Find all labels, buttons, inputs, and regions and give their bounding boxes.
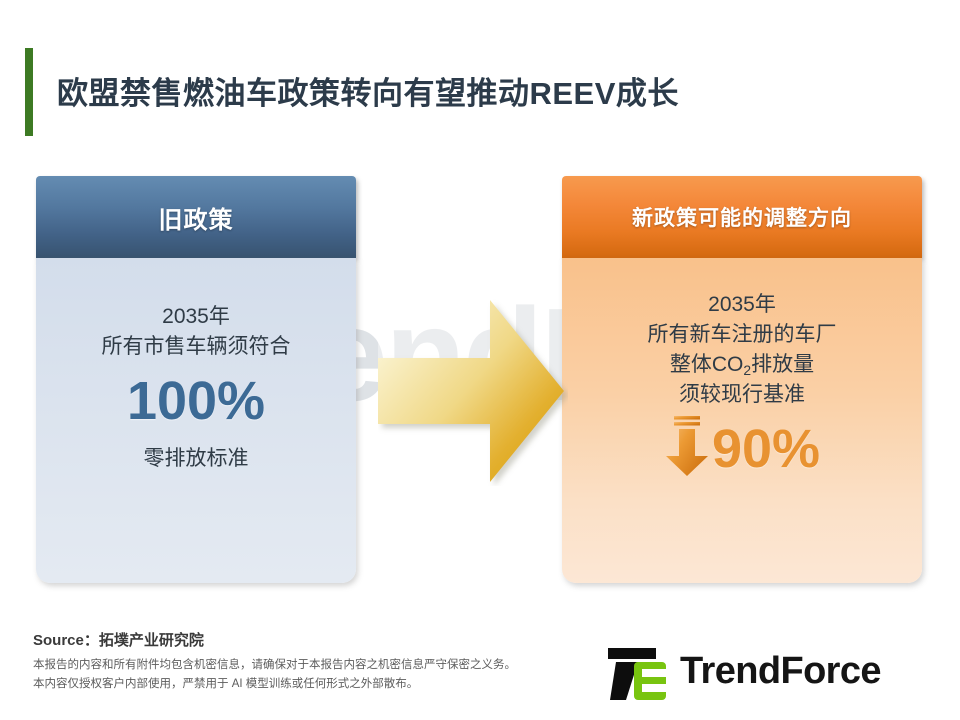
panel-old-policy-body: 2035年 所有市售车辆须符合 100% 零排放标准 <box>36 258 356 583</box>
new-policy-line-4: 须较现行基准 <box>679 380 805 410</box>
source-label: Source：拓墣产业研究院 <box>33 629 204 650</box>
new-policy-reduction-row: 90% <box>664 416 820 482</box>
title-row: 欧盟禁售燃油车政策转向有望推动REEV成长 <box>25 48 925 136</box>
old-policy-big-number: 100% <box>127 374 265 428</box>
trendforce-logo-icon <box>608 648 674 705</box>
old-policy-line-2: 所有市售车辆须符合 <box>102 332 291 362</box>
panel-new-policy-body: 2035年 所有新车注册的车厂 整体CO2排放量 须较现行基准 <box>562 258 922 583</box>
transition-arrow-right-icon <box>378 296 568 486</box>
disclaimer-line-1: 本报告的内容和所有附件均包含机密信息，请确保对于本报告内容之机密信息严守保密之义… <box>33 656 516 675</box>
panel-new-policy-header: 新政策可能的调整方向 <box>562 176 922 258</box>
panel-new-policy-header-label: 新政策可能的调整方向 <box>632 202 852 232</box>
new-policy-big-number: 90% <box>712 422 820 476</box>
disclaimer-block: 本报告的内容和所有附件均包含机密信息，请确保对于本报告内容之机密信息严守保密之义… <box>33 656 516 693</box>
arrow-down-icon <box>664 414 710 483</box>
footer: Source：拓墣产业研究院 本报告的内容和所有附件均包含机密信息，请确保对于本… <box>0 620 960 720</box>
new-policy-co2-subscript: 2 <box>743 362 751 378</box>
old-policy-caption: 零排放标准 <box>144 442 249 472</box>
title-accent-bar <box>25 48 33 136</box>
page-title: 欧盟禁售燃油车政策转向有望推动REEV成长 <box>57 68 679 113</box>
disclaimer-line-2: 本内容仅授权客户内部使用，严禁用于 AI 模型训练或任何形式之外部散布。 <box>33 675 516 694</box>
new-policy-co2-line: 整体CO2排放量 <box>670 350 814 381</box>
new-policy-co2-prefix: 整体CO <box>670 353 744 376</box>
panel-old-policy-header-label: 旧政策 <box>159 200 234 235</box>
new-policy-line-1: 2035年 <box>708 290 776 320</box>
old-policy-line-1: 2035年 <box>162 302 230 332</box>
panel-old-policy-header: 旧政策 <box>36 176 356 258</box>
new-policy-line-2: 所有新车注册的车厂 <box>648 320 837 350</box>
new-policy-co2-suffix: 排放量 <box>751 353 814 376</box>
